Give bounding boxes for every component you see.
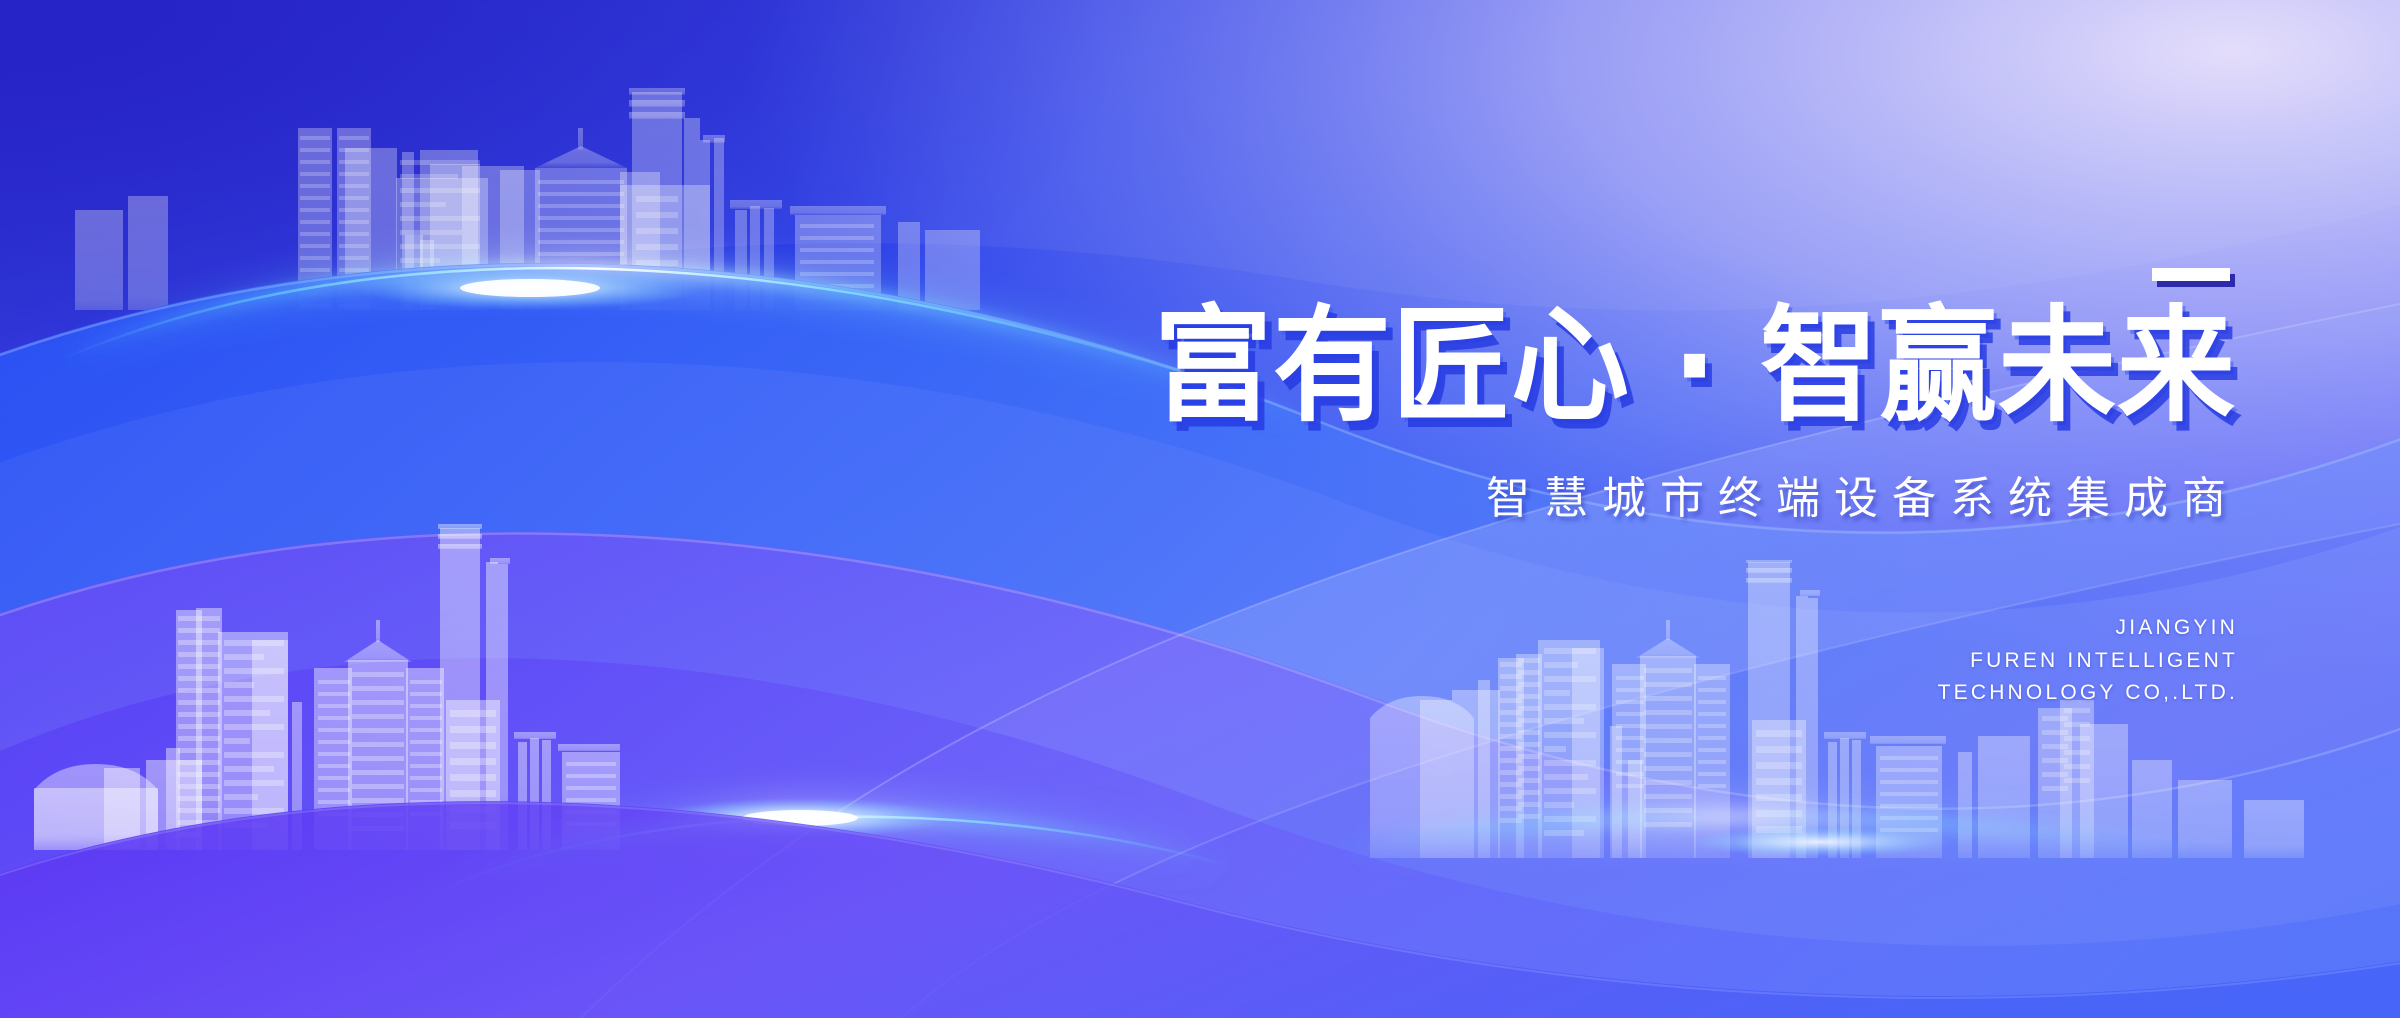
subtitle: 智慧城市终端设备系统集成商 xyxy=(1060,462,2240,526)
banner-canvas: 富有匠心 · 智赢未来 智慧城市终端设备系统集成商 JIANGYIN FUREN… xyxy=(0,0,2400,1018)
accent-dash-icon xyxy=(2152,268,2230,281)
headline-block: 富有匠心 · 智赢未来 智慧城市终端设备系统集成商 JIANGYIN FUREN… xyxy=(1060,240,2240,710)
page-title: 富有匠心 · 智赢未来 xyxy=(1060,303,2240,428)
company-name: JIANGYIN FUREN INTELLIGENT TECHNOLOGY CO… xyxy=(1060,612,2240,710)
company-line-1: JIANGYIN xyxy=(1060,612,2238,645)
company-line-2: FUREN INTELLIGENT xyxy=(1060,645,2238,678)
company-line-3: TECHNOLOGY CO,.LTD. xyxy=(1060,677,2238,710)
